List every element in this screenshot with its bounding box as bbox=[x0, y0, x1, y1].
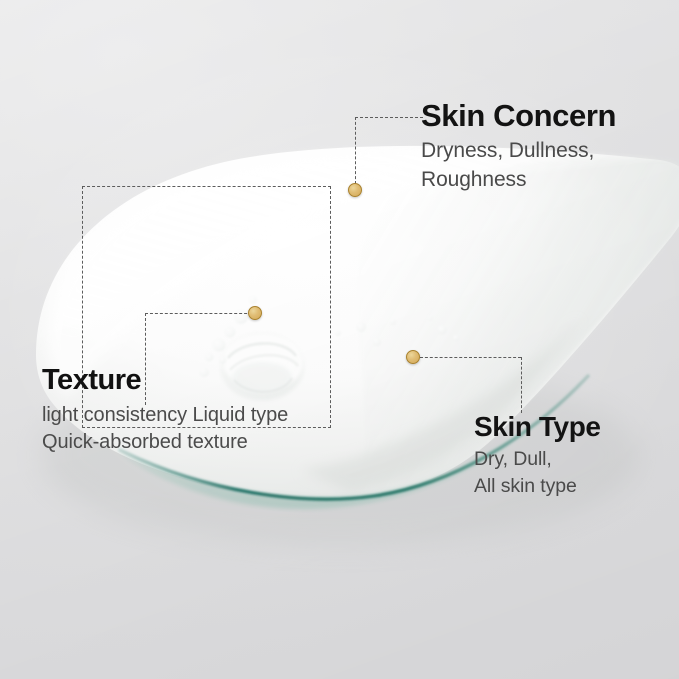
skin-concern-leader-horizontal bbox=[355, 117, 423, 118]
product-infographic: Skin Concern Dryness, Dullness, Roughnes… bbox=[0, 0, 679, 679]
skin-type-line-1: Dry, Dull, bbox=[474, 447, 601, 473]
skin-type-leader-horizontal bbox=[420, 357, 521, 358]
skin-type-line-2: All skin type bbox=[474, 474, 601, 500]
texture-leader-vertical bbox=[145, 313, 146, 405]
skin-type-leader-vertical bbox=[521, 357, 522, 413]
skin-type-title: Skin Type bbox=[474, 412, 601, 442]
texture-line-2: Quick-absorbed texture bbox=[42, 431, 248, 454]
texture-leader-horizontal bbox=[145, 313, 257, 314]
texture-line-1: light consistency Liquid type bbox=[42, 404, 288, 427]
callout-skin-concern: Skin Concern Dryness, Dullness, Roughnes… bbox=[421, 99, 616, 194]
texture-title: Texture bbox=[42, 364, 141, 397]
skin-concern-title: Skin Concern bbox=[421, 99, 616, 132]
skin-concern-leader-vertical bbox=[355, 117, 356, 184]
skin-concern-line-1: Dryness, Dullness, bbox=[421, 137, 616, 165]
skin-concern-line-2: Roughness bbox=[421, 166, 616, 194]
skin-type-marker-dot[interactable] bbox=[406, 350, 420, 364]
callout-skin-type: Skin Type Dry, Dull, All skin type bbox=[474, 412, 601, 500]
skin-concern-marker-dot[interactable] bbox=[348, 183, 362, 197]
texture-marker-dot[interactable] bbox=[248, 306, 262, 320]
